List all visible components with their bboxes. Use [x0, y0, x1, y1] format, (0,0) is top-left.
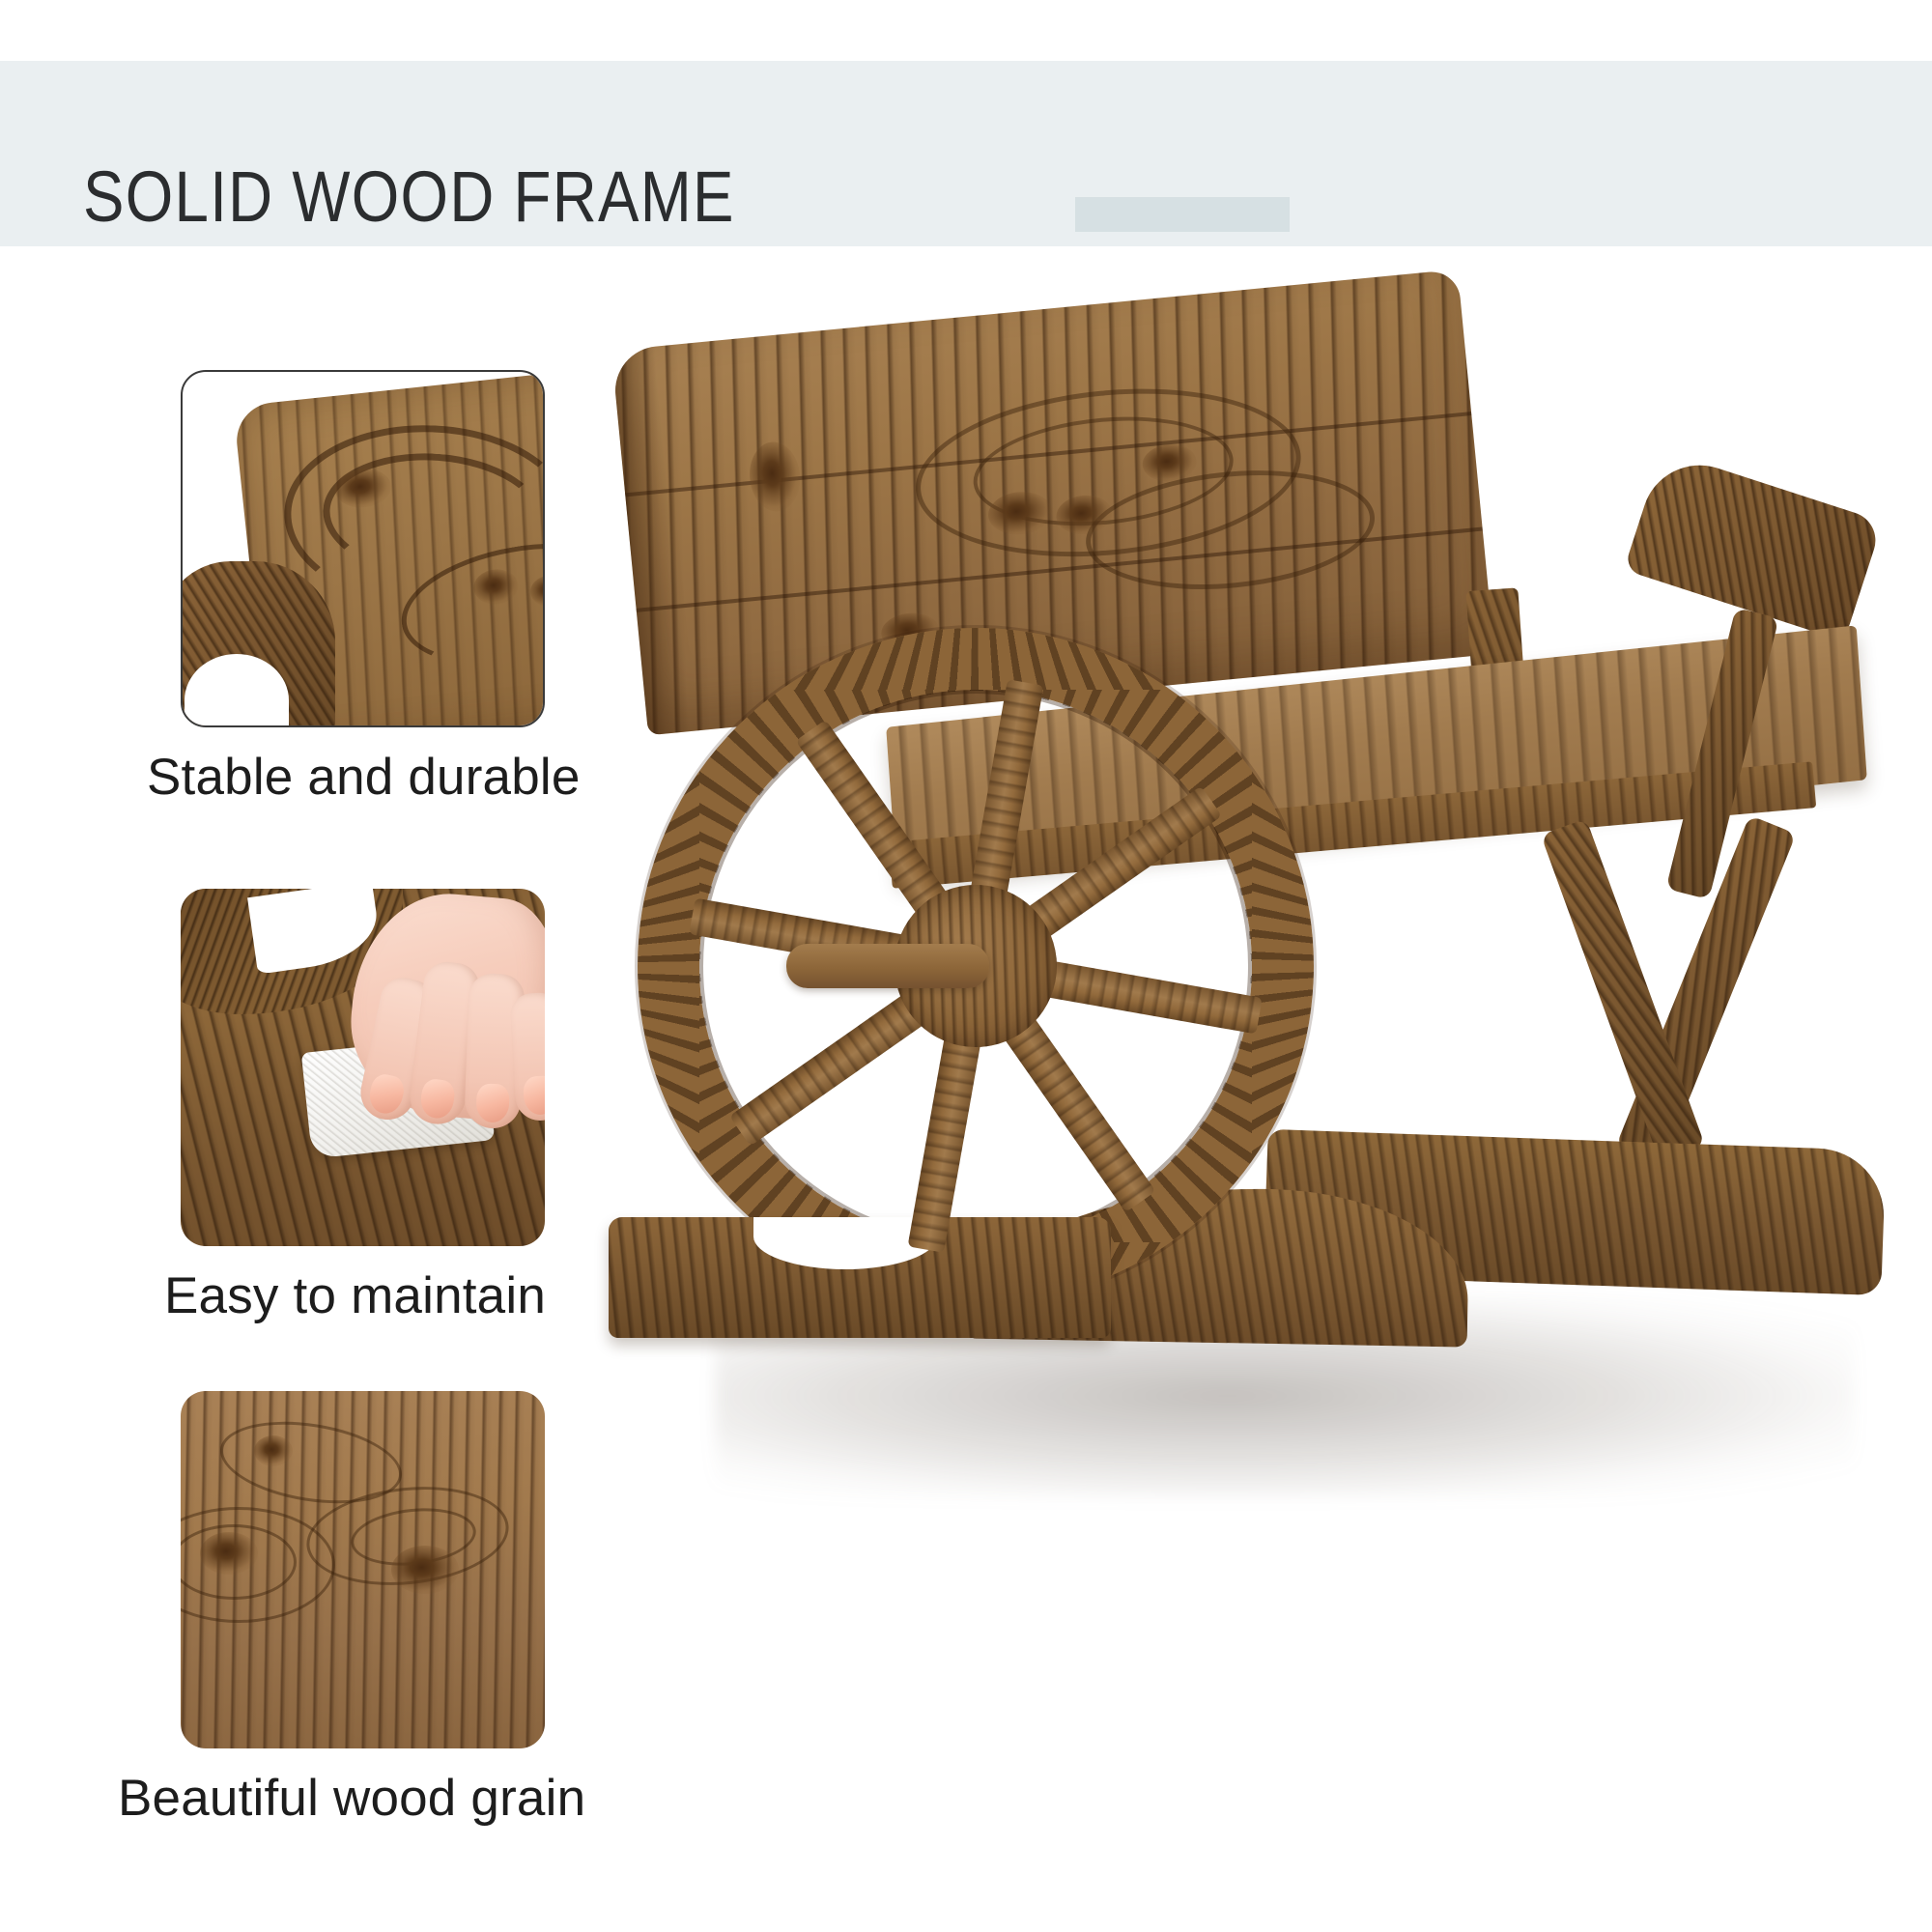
feature-caption: Easy to maintain: [164, 1269, 618, 1323]
feature-list: Stable and durable: [0, 246, 618, 1932]
fingernail: [366, 1072, 407, 1117]
feature-item-stable-and-durable: Stable and durable: [0, 370, 618, 805]
hero-product-image: [599, 290, 1932, 1662]
wood-knot: [391, 1546, 459, 1594]
fingernail: [523, 1075, 545, 1116]
backrest-closeup-thumbnail: [181, 370, 545, 727]
fingernail: [419, 1078, 457, 1121]
fingernail: [475, 1083, 509, 1122]
header-accent-bar: [1075, 197, 1290, 232]
header-band: SOLID WOOD FRAME: [0, 61, 1932, 246]
feature-item-easy-to-maintain: Easy to maintain: [0, 889, 618, 1323]
wood-knot: [254, 1435, 293, 1466]
bench-foot-left: [609, 1217, 1111, 1338]
armrest-art: [181, 561, 335, 727]
feature-item-beautiful-wood-grain: Beautiful wood grain: [0, 1391, 618, 1826]
feature-caption: Stable and durable: [147, 751, 618, 805]
feature-caption: Beautiful wood grain: [118, 1772, 618, 1826]
wagon-wheel: [638, 628, 1314, 1304]
wood-grain-texture-thumbnail: [181, 1391, 545, 1748]
wheel-axle: [786, 944, 989, 988]
page-title: SOLID WOOD FRAME: [83, 161, 735, 233]
hand-wiping-wood-thumbnail: [181, 889, 545, 1246]
wood-knot: [200, 1532, 258, 1575]
product-feature-page: SOLID WOOD FRAME: [0, 0, 1932, 1932]
